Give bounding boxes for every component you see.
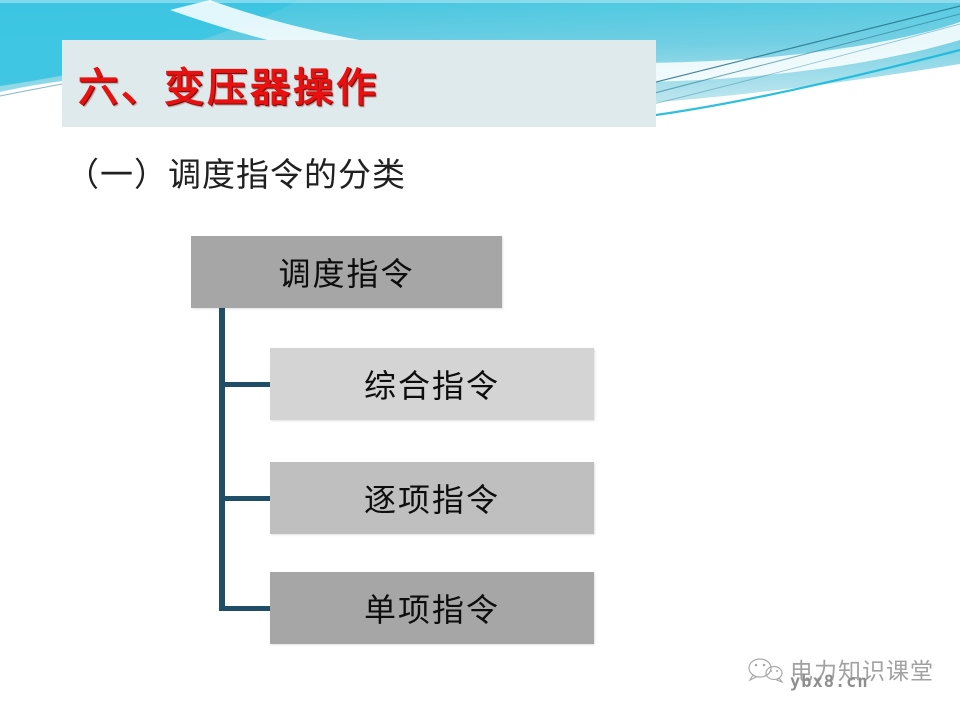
tree-node-label: 单项指令: [364, 585, 500, 631]
connector-branch-2: [219, 496, 273, 501]
tree-node-root-label: 调度指令: [278, 249, 414, 295]
tree-node-comprehensive-order: 综合指令: [270, 348, 594, 420]
connector-branch-3: [219, 606, 273, 611]
tree-node-single-order: 单项指令: [270, 572, 594, 644]
wechat-icon: [746, 654, 786, 684]
tree-node-root: 调度指令: [191, 236, 502, 308]
tree-node-itemized-order: 逐项指令: [270, 462, 594, 534]
tree-node-label: 逐项指令: [364, 475, 500, 521]
tree-node-label: 综合指令: [364, 361, 500, 407]
connector-branch-1: [219, 382, 273, 387]
connector-trunk: [219, 308, 225, 610]
watermark: 电力知识课堂 ybx8.cn: [746, 652, 952, 700]
slide-canvas: 六、变压器操作 （一）调度指令的分类 调度指令 综合指令 逐项指令 单项指令: [0, 0, 960, 720]
classification-tree-diagram: 调度指令 综合指令 逐项指令 单项指令: [0, 0, 960, 720]
watermark-site: ybx8.cn: [790, 672, 869, 692]
